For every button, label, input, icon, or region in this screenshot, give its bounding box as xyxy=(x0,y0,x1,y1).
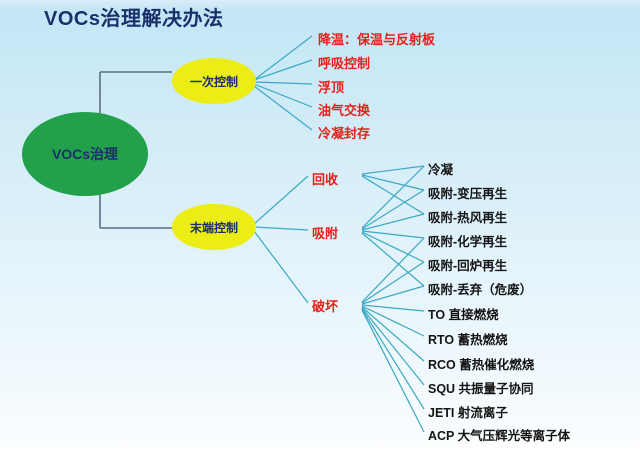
leaf-adsorption-3: 吸附-丢弃（危废） xyxy=(428,279,532,298)
leaf-destruction-6: ACP 大气压辉光等离子体 xyxy=(428,425,570,444)
leaf-recovery-1: 冷凝 xyxy=(428,159,453,178)
node-destruction[interactable]: 破坏 xyxy=(312,296,338,315)
leaf-adsorption-2: 吸附-回炉再生 xyxy=(428,255,507,274)
leaf-primary-2: 呼吸控制 xyxy=(318,53,370,72)
mindmap-slide: VOCs治理解决办法 VOCs治理 一次控制 末端控制 降温：保温与反射板 呼吸… xyxy=(0,0,640,450)
leaf-primary-4: 油气交换 xyxy=(318,100,370,119)
leaf-destruction-4: SQU 共振量子协同 xyxy=(428,378,534,397)
leaf-primary-1: 降温：保温与反射板 xyxy=(318,29,435,48)
leaf-destruction-1: TO 直接燃烧 xyxy=(428,304,499,323)
recovery-fan-connectors xyxy=(362,166,424,214)
node-root[interactable]: VOCs治理 xyxy=(22,112,148,196)
leaf-destruction-3: RCO 蓄热催化燃烧 xyxy=(428,354,534,373)
node-terminal-control-label: 末端控制 xyxy=(190,219,238,236)
node-adsorption[interactable]: 吸附 xyxy=(312,223,338,242)
leaf-recovery-2: 吸附-变压再生 xyxy=(428,183,507,202)
node-terminal-control[interactable]: 末端控制 xyxy=(172,204,256,250)
node-primary-control[interactable]: 一次控制 xyxy=(172,58,256,104)
leaf-destruction-2: RTO 蓄热燃烧 xyxy=(428,329,508,348)
terminal-fan-connectors xyxy=(254,176,308,303)
leaf-adsorption-1: 吸附-化学再生 xyxy=(428,231,507,250)
node-recovery[interactable]: 回收 xyxy=(312,169,338,188)
leaf-primary-5: 冷凝封存 xyxy=(318,123,370,142)
destruction-fan-connectors xyxy=(362,238,424,432)
leaf-primary-3: 浮顶 xyxy=(318,77,344,96)
adsorption-fan-connectors xyxy=(362,166,424,286)
leaf-destruction-5: JETI 射流离子 xyxy=(428,402,508,421)
page-title: VOCs治理解决办法 xyxy=(44,2,223,31)
node-primary-control-label: 一次控制 xyxy=(190,73,238,90)
primary-fan-connectors xyxy=(254,36,312,130)
node-root-label: VOCs治理 xyxy=(52,144,118,164)
leaf-recovery-3: 吸附-热风再生 xyxy=(428,207,507,226)
